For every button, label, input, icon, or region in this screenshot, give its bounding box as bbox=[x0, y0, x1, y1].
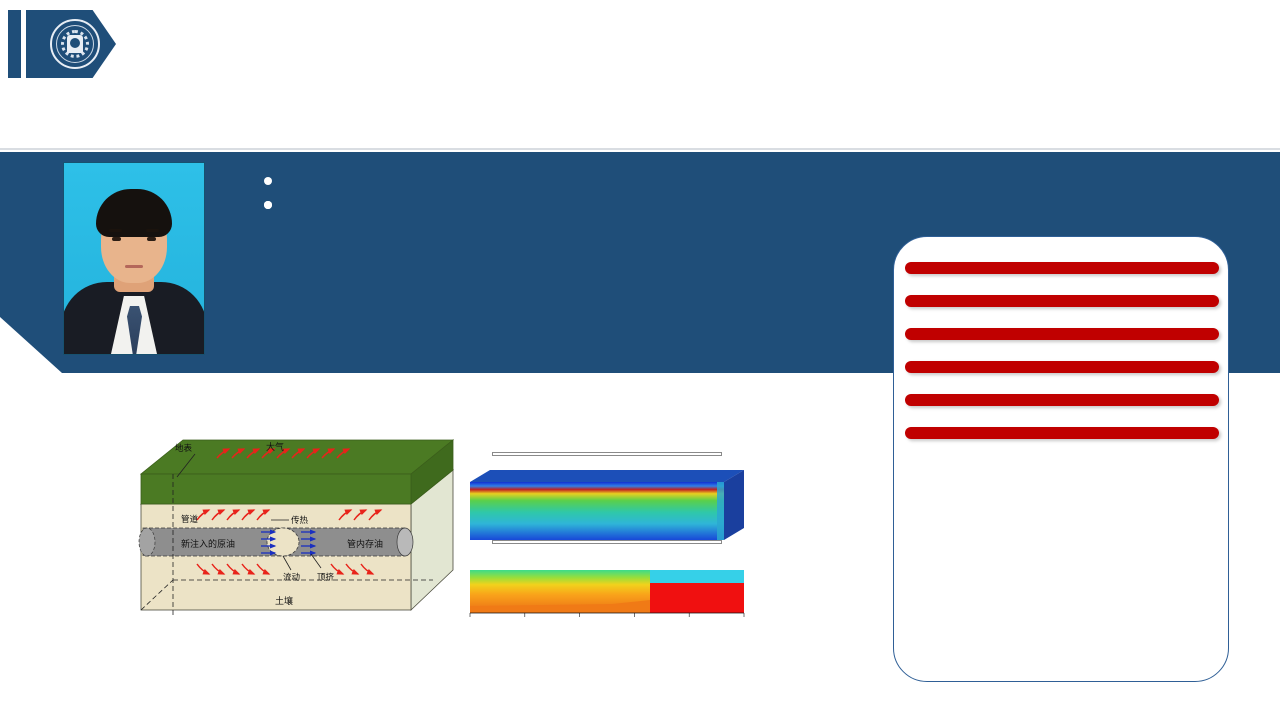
svg-text:大气: 大气 bbox=[266, 441, 284, 452]
svg-text:传热: 传热 bbox=[291, 515, 309, 525]
svg-text:地表: 地表 bbox=[175, 443, 193, 453]
research-tag[interactable] bbox=[905, 427, 1219, 439]
xjtu-seal-icon bbox=[50, 19, 100, 69]
svg-text:流动: 流动 bbox=[283, 572, 301, 582]
slide-root: 大气 地表 管道 传热 新注入的原油 管内存油 流动 顶挤 土壤 bbox=[0, 0, 1280, 720]
research-tag[interactable] bbox=[905, 262, 1219, 274]
colorbar-holdup bbox=[492, 540, 722, 544]
profile-bullet-list bbox=[258, 168, 878, 192]
svg-text:管道: 管道 bbox=[181, 514, 199, 524]
header-accent-bar bbox=[8, 10, 21, 78]
research-tag[interactable] bbox=[905, 328, 1219, 340]
svg-text:管内存油: 管内存油 bbox=[347, 538, 383, 549]
research-tag[interactable] bbox=[905, 361, 1219, 373]
research-tag[interactable] bbox=[905, 295, 1219, 307]
header-logo-banner bbox=[26, 10, 116, 78]
research-tag[interactable] bbox=[905, 394, 1219, 406]
svg-text:新注入的原油: 新注入的原油 bbox=[181, 538, 235, 549]
svg-text:顶挤: 顶挤 bbox=[317, 572, 335, 582]
svg-text:土壤: 土壤 bbox=[275, 595, 293, 606]
research-tag-list bbox=[905, 262, 1219, 460]
cfd-plots bbox=[462, 440, 762, 635]
header-divider bbox=[0, 148, 1280, 150]
pipeline-schematic: 大气 地表 管道 传热 新注入的原油 管内存油 流动 顶挤 土壤 bbox=[133, 432, 463, 627]
avatar bbox=[63, 162, 205, 355]
